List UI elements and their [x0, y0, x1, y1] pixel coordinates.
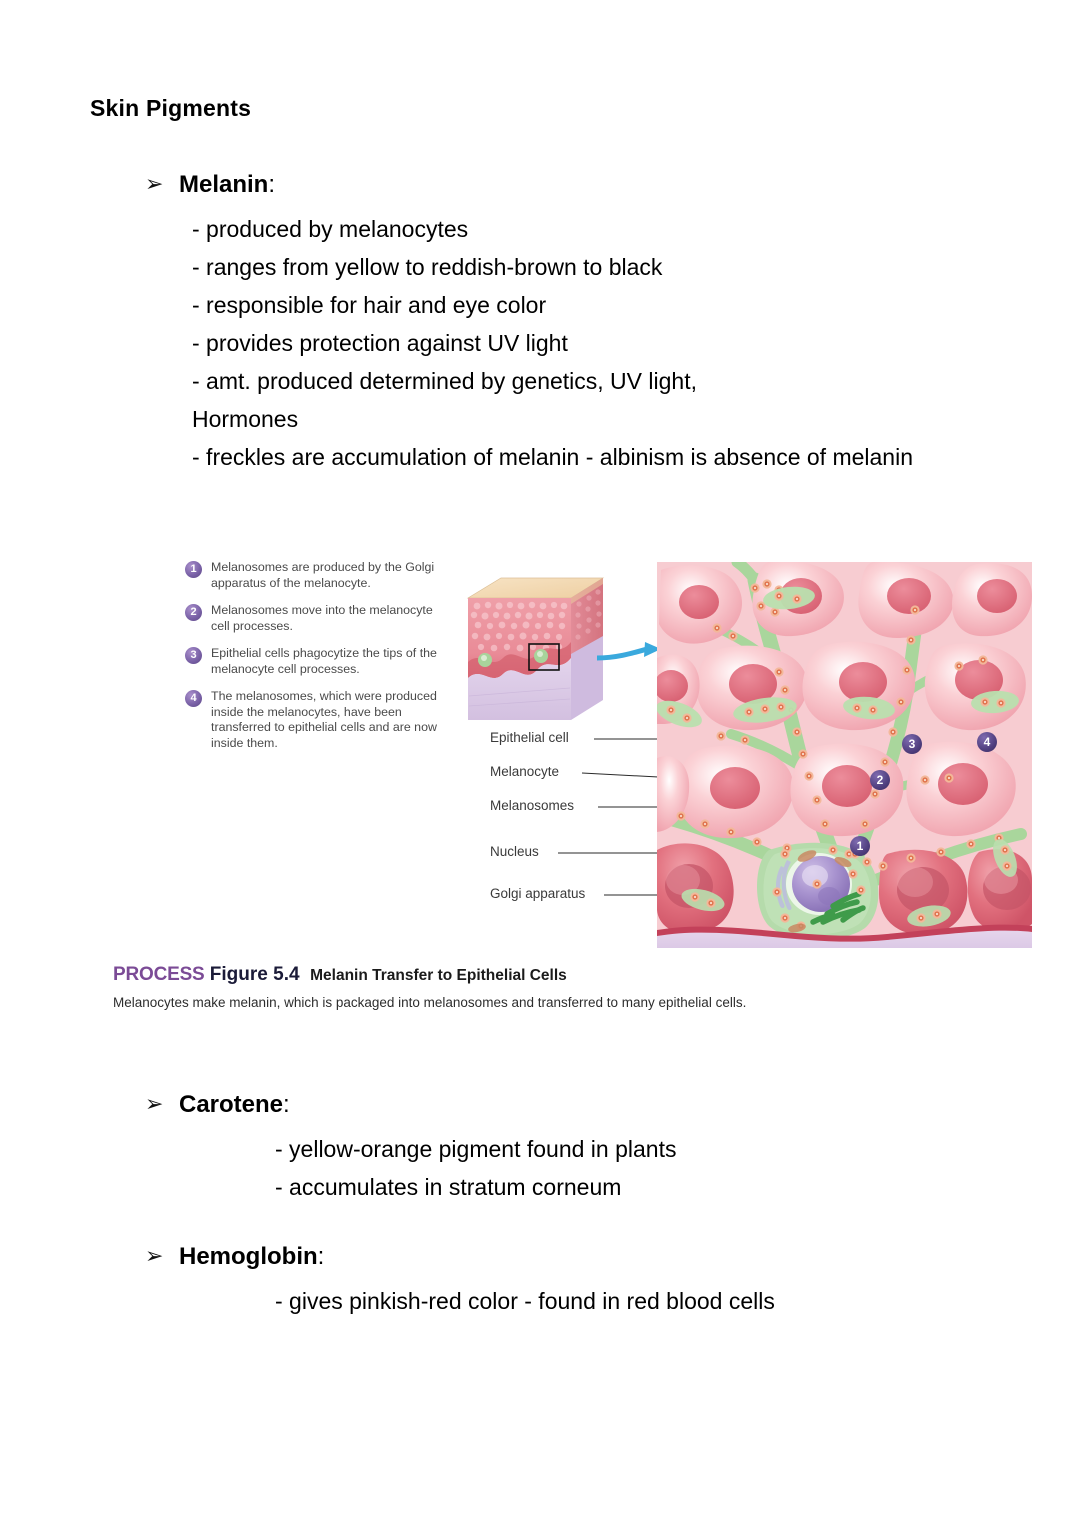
page-title: Skin Pigments: [90, 95, 251, 122]
carotene-line-1: - yellow-orange pigment found in plants: [275, 1130, 676, 1168]
arrow-bullet-icon: ➢: [145, 1090, 179, 1120]
melanin-line-3: - responsible for hair and eye color: [192, 286, 992, 324]
melanin-line-5: - amt. produced determined by genetics, …: [192, 362, 992, 400]
bullet-melanin-colon: :: [268, 171, 275, 198]
panel-marker-2: 2: [870, 770, 890, 790]
bullet-melanin: ➢ Melanin:: [145, 170, 275, 200]
panel-marker-3: 3: [902, 734, 922, 754]
process-step-3: 3 Epithelial cells phagocytize the tips …: [185, 646, 445, 677]
melanin-line-4: - provides protection against UV light: [192, 324, 992, 362]
bullet-melanin-heading: Melanin:: [179, 170, 275, 200]
carotene-line-2: - accumulates in stratum corneum: [275, 1168, 676, 1206]
step-number-badge: 3: [185, 647, 202, 664]
melanin-line-2: - ranges from yellow to reddish-brown to…: [192, 248, 992, 286]
melanin-transfer-svg: [657, 562, 1032, 948]
panel-marker-1: 1: [850, 836, 870, 856]
step-text: Melanosomes are produced by the Golgi ap…: [211, 560, 445, 591]
carotene-sublines: - yellow-orange pigment found in plants …: [275, 1130, 676, 1206]
arrow-bullet-icon: ➢: [145, 170, 179, 200]
hemoglobin-line-1: - gives pinkish-red color - found in red…: [275, 1282, 775, 1320]
step-number-badge: 4: [185, 690, 202, 707]
bullet-melanin-term: Melanin: [179, 171, 268, 198]
bullet-hemoglobin-term: Hemoglobin: [179, 1243, 318, 1270]
bullet-carotene: ➢ Carotene:: [145, 1090, 290, 1120]
caption-title: Melanin Transfer to Epithelial Cells: [310, 967, 567, 984]
bullet-hemoglobin-colon: :: [318, 1243, 325, 1270]
bullet-hemoglobin-heading: Hemoglobin:: [179, 1242, 324, 1272]
bullet-carotene-term: Carotene: [179, 1091, 283, 1118]
step-text: Melanosomes move into the melanocyte cel…: [211, 603, 445, 634]
bullet-carotene-heading: Carotene:: [179, 1090, 290, 1120]
caption-process-tag: PROCESS: [113, 964, 205, 985]
step-text: Epithelial cells phagocytize the tips of…: [211, 646, 445, 677]
melanin-line-6: Hormones: [192, 400, 992, 438]
process-step-1: 1 Melanosomes are produced by the Golgi …: [185, 560, 445, 591]
figure-caption-subtitle: Melanocytes make melanin, which is packa…: [113, 995, 746, 1010]
figure-5-4: 1 Melanosomes are produced by the Golgi …: [105, 552, 1035, 1022]
process-steps: 1 Melanosomes are produced by the Golgi …: [185, 560, 445, 763]
step-number-badge: 2: [185, 604, 202, 621]
step-text: The melanosomes, which were produced ins…: [211, 689, 445, 751]
melanin-sublines: - produced by melanocytes - ranges from …: [192, 210, 992, 476]
bullet-hemoglobin: ➢ Hemoglobin:: [145, 1242, 324, 1272]
panel-marker-4: 4: [977, 732, 997, 752]
skin-block-illustration: [463, 570, 608, 740]
melanin-transfer-panel: 1 2 3 4: [657, 562, 1032, 948]
process-step-4: 4 The melanosomes, which were produced i…: [185, 689, 445, 751]
process-step-2: 2 Melanosomes move into the melanocyte c…: [185, 603, 445, 634]
figure-caption-heading: PROCESS Figure 5.4 Melanin Transfer to E…: [113, 964, 567, 986]
melanin-line-7: - freckles are accumulation of melanin -…: [192, 438, 989, 476]
caption-figure-number: Figure 5.4: [210, 964, 300, 985]
melanin-line-1: - produced by melanocytes: [192, 210, 992, 248]
bullet-carotene-colon: :: [283, 1091, 290, 1118]
hemoglobin-sublines: - gives pinkish-red color - found in red…: [275, 1282, 775, 1320]
skin-block-svg: [463, 570, 608, 740]
arrow-bullet-icon: ➢: [145, 1242, 179, 1272]
step-number-badge: 1: [185, 561, 202, 578]
